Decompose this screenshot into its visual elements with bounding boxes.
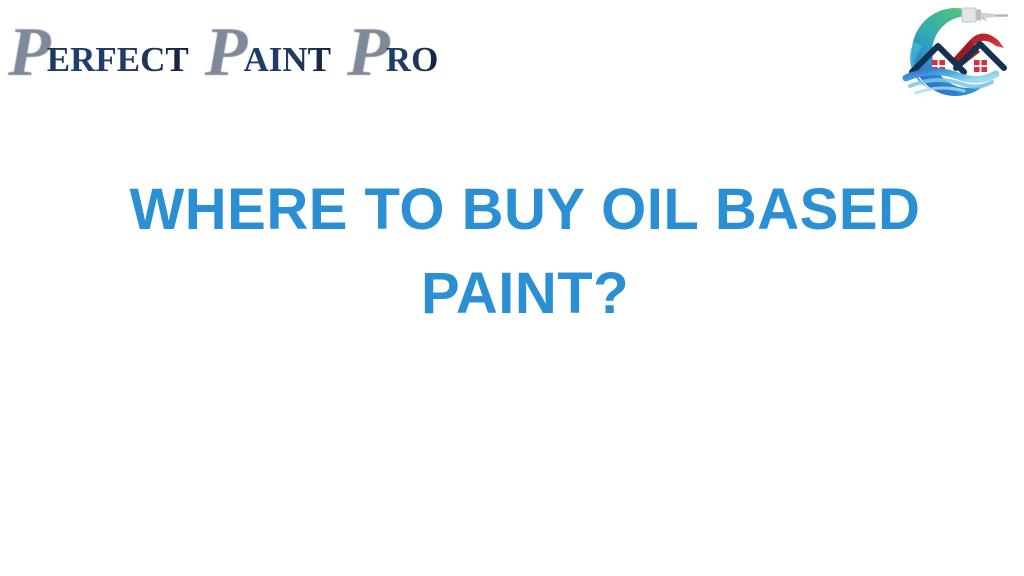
page-title-line-1: WHERE TO BUY OIL BASED [26, 168, 1024, 252]
page-title: WHERE TO BUY OIL BASED PAINT? [0, 168, 1024, 335]
brand-rest-erfect: erfect [47, 29, 189, 79]
brand-word-pro: Pro [347, 14, 438, 84]
logo-window-right [974, 60, 987, 72]
brand-initial-p2: P [205, 18, 246, 88]
brand-logo-icon [892, 2, 1014, 106]
brand-word-paint: Paint [205, 14, 331, 84]
logo-wave [906, 71, 996, 93]
page-title-line-2: PAINT? [26, 252, 1024, 336]
brand-word-perfect: Perfect [8, 14, 189, 84]
brand-rest-aint: aint [244, 29, 332, 79]
brand-initial-p3: P [347, 18, 388, 88]
brand-initial-p1: P [8, 18, 49, 88]
brand-wordmark: Perfect Paint Pro [8, 8, 438, 90]
header-bar: Perfect Paint Pro [0, 0, 1024, 110]
brand-rest-ro: ro [386, 29, 439, 79]
